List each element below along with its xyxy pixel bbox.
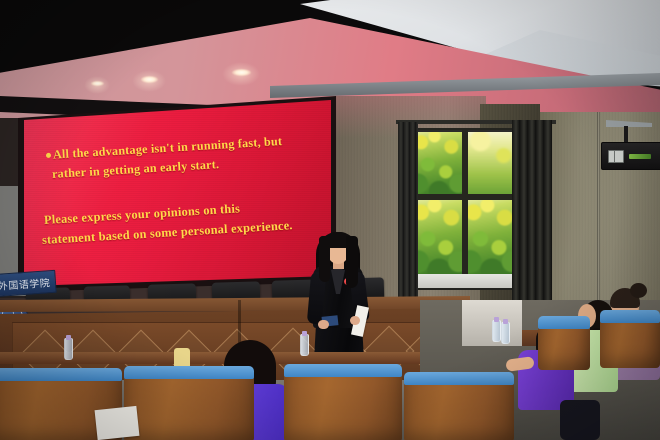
attendee-lower-body	[560, 400, 600, 440]
department-sign: 外国语学院	[0, 270, 57, 297]
window-pane-bottom-left	[416, 200, 462, 274]
curtain-left[interactable]	[398, 122, 418, 322]
foliage-view	[416, 132, 462, 194]
curtain-right[interactable]	[512, 120, 552, 330]
presenter-hand-right	[350, 316, 360, 325]
lecture-hall-photo: All the advantage isn't in running fast,…	[0, 0, 660, 440]
foreground-chair[interactable]	[124, 366, 254, 440]
chair-back	[600, 318, 660, 368]
chair-seat-top	[404, 372, 514, 385]
chair-seat-top	[0, 368, 122, 381]
chair-seat-top	[538, 316, 590, 329]
audience-desk-mid	[0, 352, 420, 364]
attendee-hair-bun	[630, 283, 647, 298]
ceiling-downlight-1	[232, 69, 251, 76]
chair-back	[404, 380, 514, 440]
foliage-view	[468, 132, 516, 194]
foliage-view	[468, 200, 516, 274]
chair-seat-top	[284, 364, 402, 377]
water-bottle[interactable]	[300, 334, 309, 356]
foliage-view	[416, 200, 462, 274]
window-pane-top-left	[416, 132, 462, 194]
documents-foreground[interactable]	[95, 406, 140, 440]
led-presentation-screen: All the advantage isn't in running fast,…	[24, 100, 331, 286]
presenter-hand-left	[318, 320, 329, 329]
chair-seat-top	[124, 366, 254, 379]
chair-back	[124, 374, 254, 440]
window-sill	[414, 274, 518, 288]
window-pane-bottom-right	[468, 200, 516, 274]
window-mullion-horizontal	[414, 194, 518, 200]
chair-seat-top	[600, 310, 660, 323]
bullet-point-icon	[46, 152, 51, 157]
window	[412, 128, 520, 290]
ceiling-downlight-2	[141, 76, 158, 83]
water-bottle[interactable]	[64, 338, 73, 360]
window-mullion-vertical	[462, 130, 468, 288]
window-pane-top-right	[468, 132, 516, 194]
presenter-hair-side-left	[319, 236, 330, 282]
screen-scanlines	[24, 100, 331, 286]
foreground-chair[interactable]	[284, 364, 402, 440]
chair-back	[284, 372, 402, 440]
device-indicator-light	[629, 154, 651, 159]
audience-chair[interactable]	[600, 310, 660, 368]
device-display-icon	[608, 150, 624, 163]
audience-chair[interactable]	[538, 316, 590, 370]
chair-back	[538, 324, 590, 370]
foreground-chair[interactable]	[404, 372, 514, 440]
water-bottle[interactable]	[492, 320, 501, 342]
water-bottle[interactable]	[501, 322, 510, 344]
ceiling-downlight-5	[91, 81, 104, 86]
presenter-hair-side-right	[346, 236, 358, 288]
wall-control-panel-device[interactable]	[601, 142, 660, 170]
department-sign-text: 外国语学院	[0, 274, 51, 293]
